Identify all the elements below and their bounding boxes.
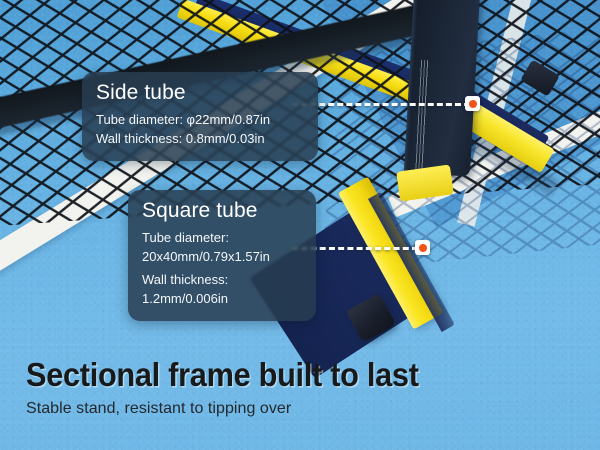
callout-square-tube-title: Square tube xyxy=(142,198,302,224)
callout-side-tube-spec-thickness: Wall thickness: 0.8mm/0.03in xyxy=(96,130,304,147)
callout-side-tube: Side tube Tube diameter: φ22mm/0.87in Wa… xyxy=(82,72,318,161)
leader-line-side-tube xyxy=(292,103,470,106)
callout-side-tube-title: Side tube xyxy=(96,80,304,106)
subheadline: Stable stand, resistant to tipping over xyxy=(26,400,291,418)
product-marketing-image: Side tube Tube diameter: φ22mm/0.87in Wa… xyxy=(0,0,600,450)
callout-square-tube: Square tube Tube diameter: 20x40mm/0.79x… xyxy=(128,190,316,321)
callout-square-tube-spec-diameter: Tube diameter: 20x40mm/0.79x1.57in xyxy=(142,229,302,265)
callout-square-tube-thickness-label: Wall thickness: xyxy=(142,271,302,288)
callout-square-tube-diameter-label: Tube diameter: xyxy=(142,229,302,246)
orange-dot-marker-icon-square-tube xyxy=(415,240,430,255)
callout-square-tube-spec-thickness: Wall thickness: 1.2mm/0.006in xyxy=(142,271,302,307)
orange-dot-marker-icon-side-tube xyxy=(465,96,480,111)
headline: Sectional frame built to last xyxy=(26,356,419,394)
callout-side-tube-spec-diameter: Tube diameter: φ22mm/0.87in xyxy=(96,111,304,128)
callout-square-tube-thickness-value: 1.2mm/0.006in xyxy=(142,290,302,307)
callout-square-tube-diameter-value: 20x40mm/0.79x1.57in xyxy=(142,248,302,265)
